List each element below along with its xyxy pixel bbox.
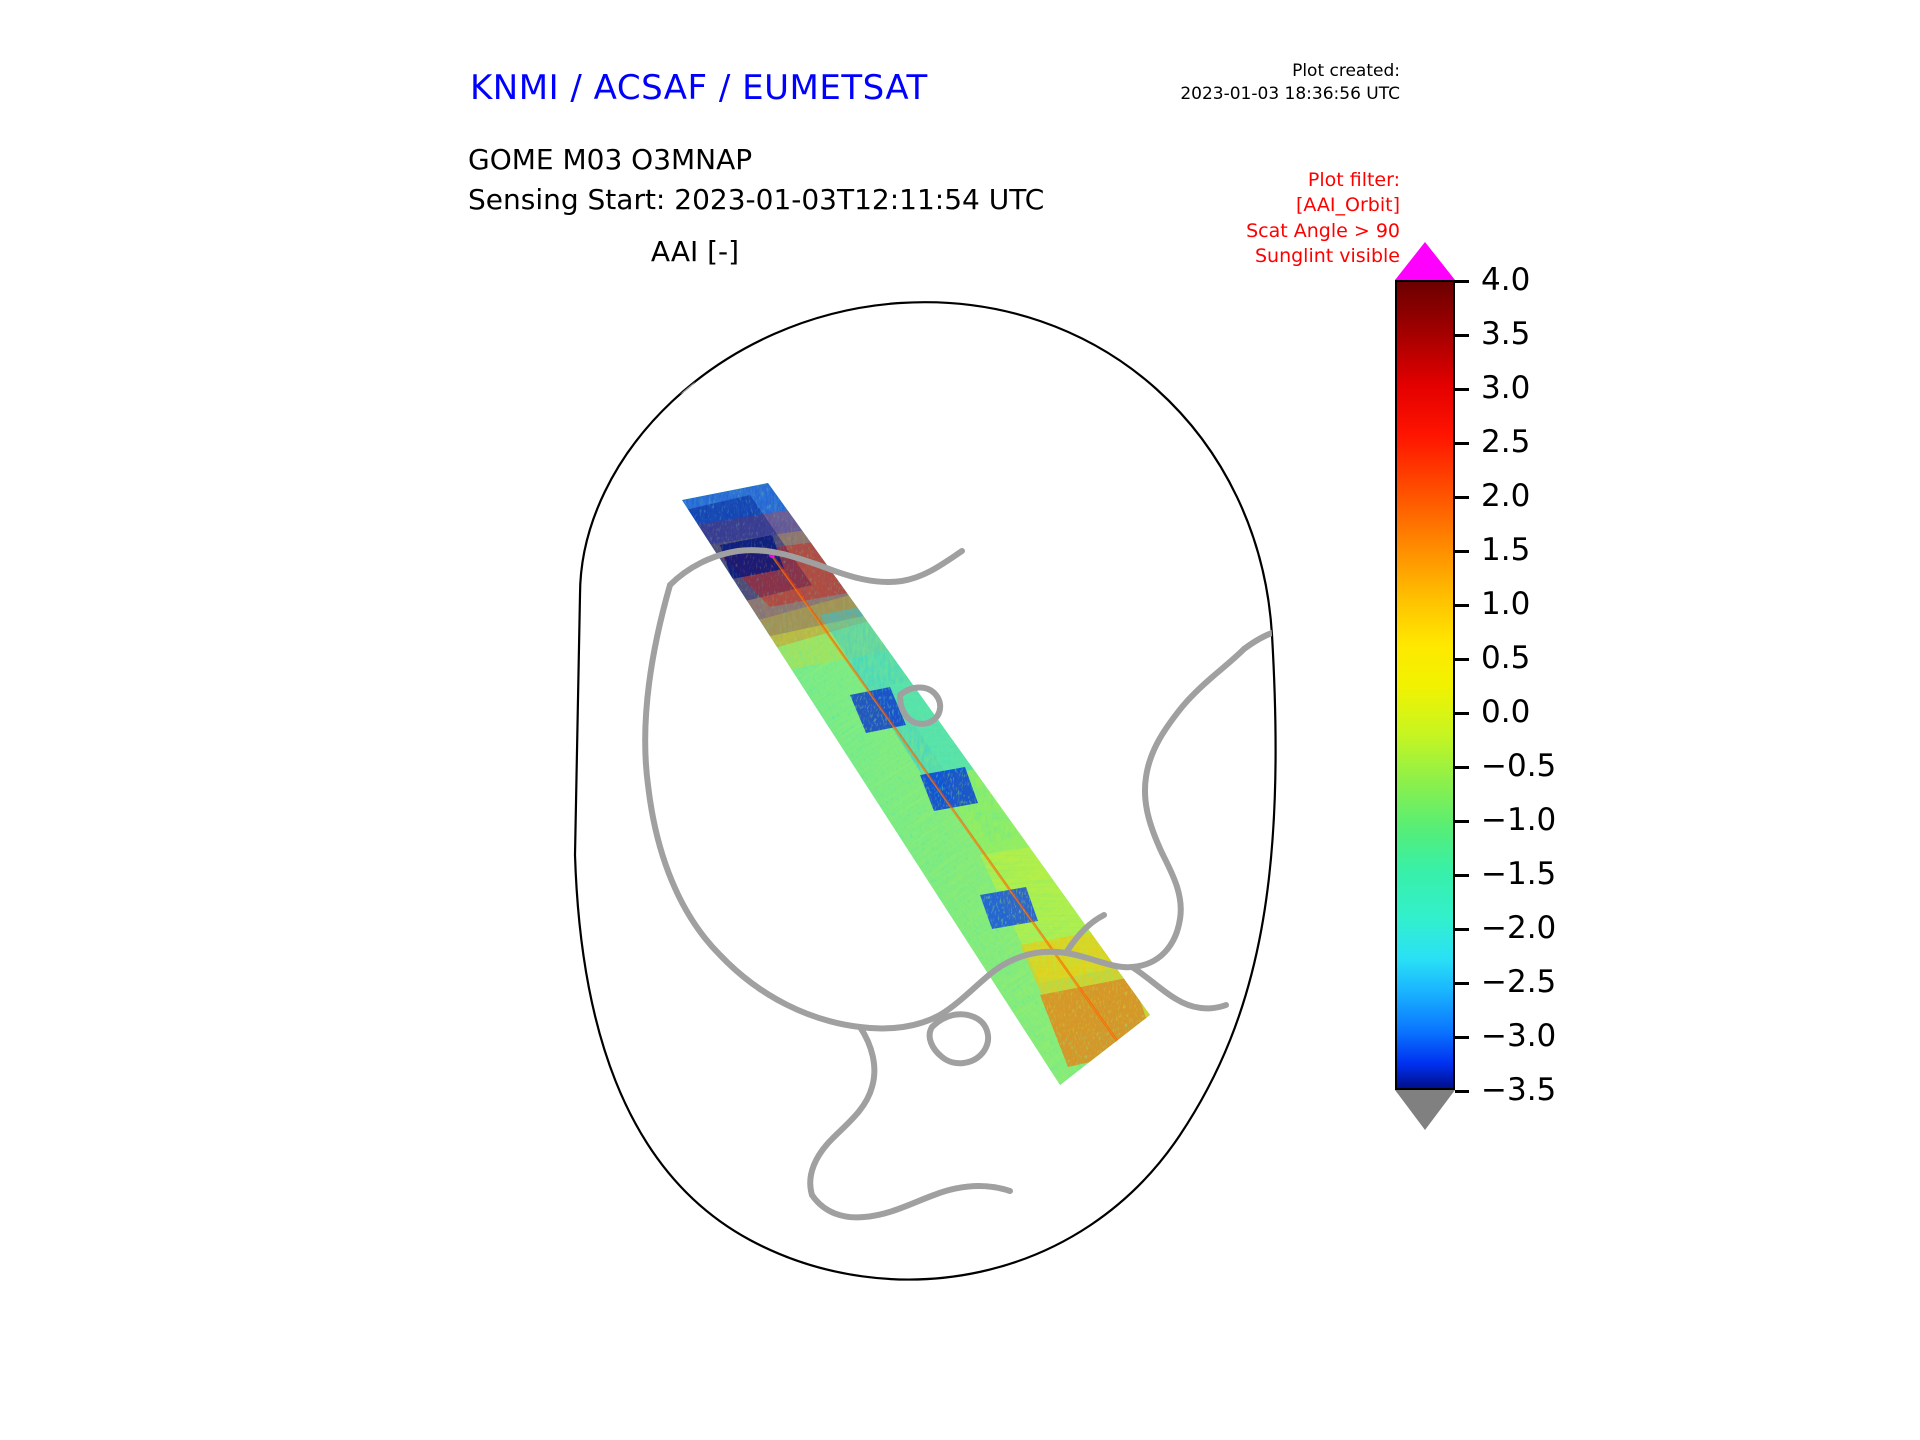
plot-filter-orbit: [AAI_Orbit] (1120, 193, 1400, 218)
agency-title: KNMI / ACSAF / EUMETSAT (470, 68, 928, 108)
colorbar-tick (1455, 388, 1469, 391)
colorbar-tick-label: −3.5 (1481, 1072, 1556, 1108)
colorbar-tick-label: 0.5 (1481, 640, 1530, 676)
colorbar-tick-label: −1.0 (1481, 802, 1556, 838)
colorbar-tick (1455, 496, 1469, 499)
colorbar-tick-label: −0.5 (1481, 748, 1556, 784)
colorbar-tick (1455, 658, 1469, 661)
sensing-start-line: Sensing Start: 2023-01-03T12:11:54 UTC (468, 180, 1044, 220)
colorbar-tick-label: −2.5 (1481, 964, 1556, 1000)
colorbar-tick (1455, 550, 1469, 553)
chart-type: heatmap (0, 0, 1, 1)
colorbar-tick-label: −2.0 (1481, 910, 1556, 946)
polar-stereographic-map (420, 255, 1380, 1330)
colorbar-tick (1455, 280, 1469, 283)
colorbar: 4.03.53.02.52.01.51.00.50.0−0.5−1.0−1.5−… (1395, 280, 1455, 1090)
colorbar-under-arrow (1395, 1090, 1455, 1130)
colorbar-over-arrow (1395, 242, 1455, 280)
map-plot-area (420, 255, 1380, 1330)
instrument-line: GOME M03 O3MNAP (468, 140, 1044, 180)
colorbar-tick (1455, 334, 1469, 337)
colorbar-tick (1455, 766, 1469, 769)
plot-created-timestamp: 2023-01-03 18:36:56 UTC (1100, 83, 1400, 106)
colorbar-tick-label: −3.0 (1481, 1018, 1556, 1054)
plot-created-block: Plot created: 2023-01-03 18:36:56 UTC (1100, 60, 1400, 106)
plot-filter-block: Plot filter: [AAI_Orbit] Scat Angle > 90… (1120, 168, 1400, 269)
colorbar-tick-label: 1.5 (1481, 532, 1530, 568)
colorbar-gradient (1395, 280, 1455, 1090)
colorbar-tick (1455, 604, 1469, 607)
plot-filter-scat-angle: Scat Angle > 90 (1120, 219, 1400, 244)
colorbar-tick-label: 0.0 (1481, 694, 1530, 730)
colorbar-tick (1455, 874, 1469, 877)
colorbar-tick (1455, 712, 1469, 715)
colorbar-tick (1455, 1036, 1469, 1039)
colorbar-tick-label: 3.0 (1481, 370, 1530, 406)
plot-filter-label: Plot filter: (1120, 168, 1400, 193)
colorbar-tick (1455, 820, 1469, 823)
plot-created-label: Plot created: (1100, 60, 1400, 83)
colorbar-tick-label: 1.0 (1481, 586, 1530, 622)
colorbar-tick (1455, 442, 1469, 445)
dataset-info-block: GOME M03 O3MNAP Sensing Start: 2023-01-0… (468, 140, 1044, 220)
colorbar-tick-label: 4.0 (1481, 262, 1530, 298)
colorbar-tick-label: −1.5 (1481, 856, 1556, 892)
colorbar-tick-label: 3.5 (1481, 316, 1530, 352)
colorbar-tick-label: 2.0 (1481, 478, 1530, 514)
colorbar-tick (1455, 982, 1469, 985)
colorbar-tick-label: 2.5 (1481, 424, 1530, 460)
colorbar-tick (1455, 1090, 1469, 1093)
colorbar-tick (1455, 928, 1469, 931)
